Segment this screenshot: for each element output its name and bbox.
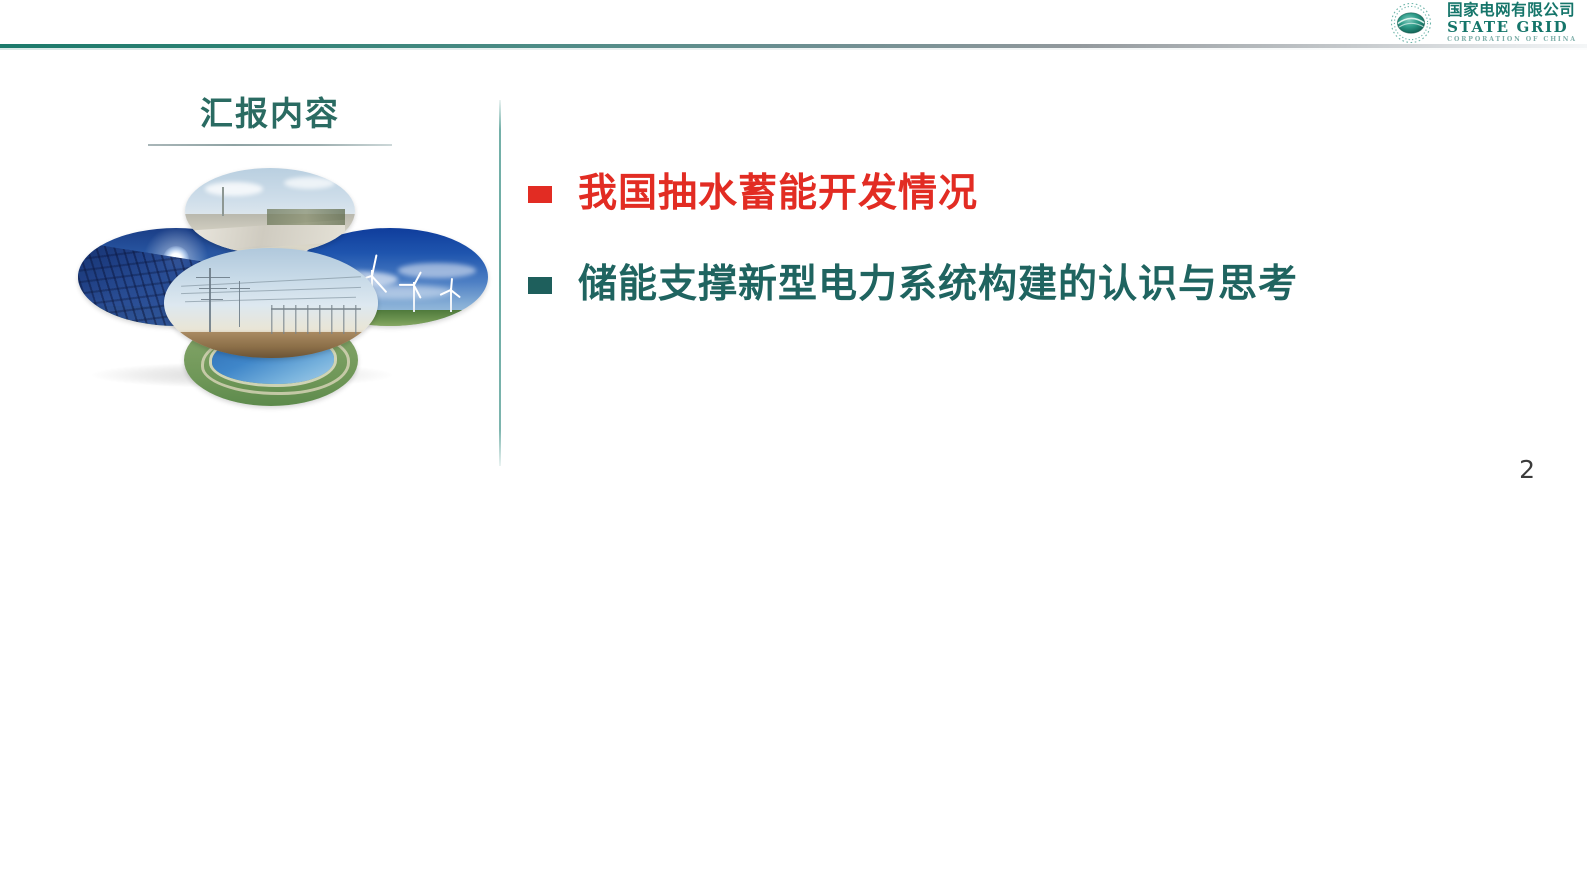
bullet-square-icon [528, 277, 552, 294]
brand-company-cn: 国家电网有限公司 [1447, 3, 1577, 19]
transmission-tower-crossarm [230, 288, 249, 289]
page-title: 汇报内容 [60, 96, 480, 132]
page-number: 2 [1519, 455, 1535, 484]
transmission-tower-crossarm [196, 277, 230, 279]
hydro-cloud [284, 177, 335, 189]
bullet-square-icon [528, 186, 552, 203]
grid-ground [164, 332, 378, 358]
agenda-item-1-label: 我国抽水蓄能开发情况 [578, 172, 978, 217]
header-divider-rule-soft [0, 48, 1587, 50]
hydro-treeline [267, 209, 345, 224]
state-grid-globe-emblem-icon [1385, 2, 1437, 44]
transmission-tower-crossarm [199, 288, 227, 290]
agenda-list: 我国抽水蓄能开发情况 储能支撑新型电力系统构建的认识与思考 [528, 172, 1568, 308]
agenda-item-1[interactable]: 我国抽水蓄能开发情况 [528, 172, 1568, 217]
agenda-item-2[interactable]: 储能支撑新型电力系统构建的认识与思考 [528, 263, 1568, 308]
collage-petal-hydropower-station [185, 168, 355, 254]
vertical-divider [499, 100, 501, 466]
energy-collage-image [78, 168, 488, 408]
left-column: 汇报内容 [60, 96, 480, 146]
brand-text-block: 国家电网有限公司 STATE GRID CORPORATION OF CHINA [1447, 3, 1577, 44]
hydro-cloud [205, 182, 263, 196]
wind-turbine-icon [402, 270, 426, 312]
substation-gantry [271, 305, 361, 334]
page-title-underline [148, 144, 392, 146]
hydro-pylon [222, 187, 224, 216]
brand-company-sub: CORPORATION OF CHINA [1447, 37, 1577, 43]
collage-petal-transmission-grid-substation [164, 248, 378, 358]
state-grid-brand-lockup: 国家电网有限公司 STATE GRID CORPORATION OF CHINA [1385, 1, 1577, 45]
brand-company-en: STATE GRID [1447, 20, 1577, 35]
transmission-tower-crossarm [201, 299, 222, 300]
slide-canvas: 国家电网有限公司 STATE GRID CORPORATION OF CHINA… [0, 0, 1587, 896]
wind-turbine-icon [441, 278, 461, 312]
agenda-item-2-label: 储能支撑新型电力系统构建的认识与思考 [578, 263, 1298, 308]
